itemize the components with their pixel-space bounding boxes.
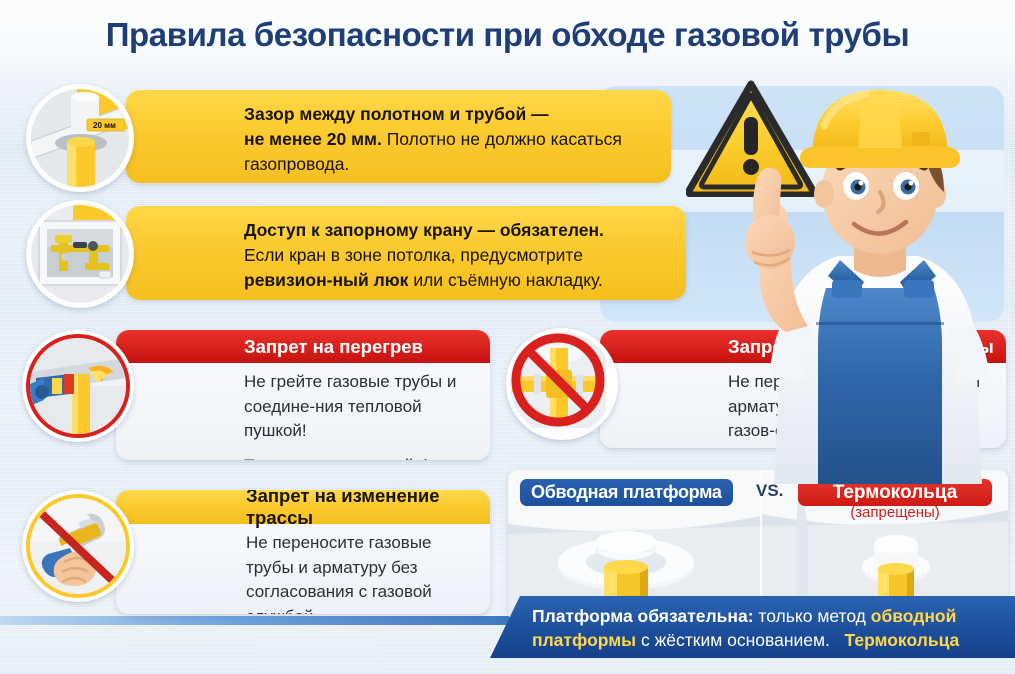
card-gap-text: Зазор между полотном и трубой — не менее… xyxy=(244,102,655,177)
card-overheat-header-text: Запрет на перегрев xyxy=(116,336,423,358)
infographic-poster: Правила безопасности при обходе газовой … xyxy=(0,0,1015,674)
card-gap-banner: Зазор между полотном и трубой — не менее… xyxy=(126,90,671,183)
bottom-banner-mid2: с жёстким основанием. xyxy=(636,630,830,650)
card-valve-text: Доступ к запорному крану — обязателен. Е… xyxy=(244,218,670,293)
card-overheat-box: Запрет на перегрев Не грейте газовые тру… xyxy=(116,330,490,460)
card-valve-post: или съёмную накладку. xyxy=(408,270,602,290)
card-route-left-line1: Не переносите газовые трубы и арматуру б… xyxy=(246,531,478,614)
comparison-left-label: Обводная платформа xyxy=(520,479,733,506)
card-route-left-box: Запрет на изменение трассы Не переносите… xyxy=(116,490,490,614)
page-title: Правила безопасности при обходе газовой … xyxy=(0,16,1015,54)
pipe-gap-photo: 20 мм xyxy=(26,84,134,192)
card-route-left-header: Запрет на изменение трассы xyxy=(116,490,490,524)
card-gap-lead: Зазор между полотном и трубой — xyxy=(244,104,549,124)
card-route-left-header-text: Запрет на изменение трассы xyxy=(116,490,490,529)
card-route-left-body: Не переносите газовые трубы и арматуру б… xyxy=(246,531,478,614)
bottom-banner-mid: только метод xyxy=(754,606,871,626)
card-valve-bold: ревизион-ный люк xyxy=(244,270,408,290)
bottom-banner: Платформа обязательна: только метод обво… xyxy=(490,596,1015,658)
card-valve-pre: Если кран в зоне потолка, предусмотрите xyxy=(244,245,583,265)
crossed-wrench-photo xyxy=(22,490,134,602)
bottom-banner-text: Платформа обязательна: только метод обво… xyxy=(532,604,1001,652)
card-valve-lead: Доступ к запорному крану — обязателен. xyxy=(244,220,604,240)
card-overheat-line2: Только строительный фен или прогрев на х… xyxy=(244,454,478,461)
card-valve-banner: Доступ к запорному крану — обязателен. Е… xyxy=(126,206,686,300)
card-overheat-body: Не грейте газовые трубы и соедине-ния те… xyxy=(244,370,478,460)
valve-hatch-photo xyxy=(26,200,134,308)
card-overheat-header: Запрет на перегрев xyxy=(116,330,490,363)
bottom-banner-lead: Платформа обязательна: xyxy=(532,606,754,626)
comparison-right-sublabel: (запрещены) xyxy=(798,504,992,521)
worker-character-icon xyxy=(742,74,1015,484)
card-overheat-line1: Не грейте газовые трубы и соедине-ния те… xyxy=(244,370,478,444)
crossed-pipe-photo xyxy=(506,328,618,440)
heat-gun-pipe-photo xyxy=(22,330,134,442)
gap-measure-label: 20 мм xyxy=(93,121,116,130)
card-gap-lead2: не менее 20 мм. xyxy=(244,129,382,149)
bottom-banner-hl2: Термокольца xyxy=(845,630,960,650)
